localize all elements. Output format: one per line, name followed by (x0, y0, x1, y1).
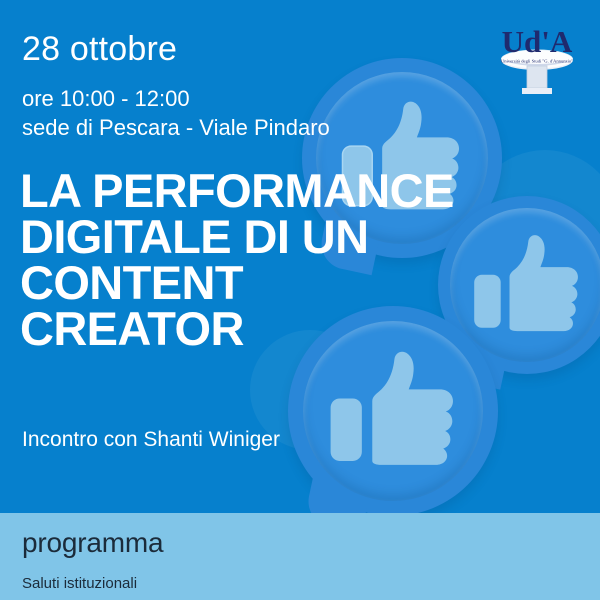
poster-content: 28 ottobre ore 10:00 - 12:00 sede di Pes… (0, 0, 600, 600)
event-meta: ore 10:00 - 12:00 sede di Pescara - Vial… (22, 84, 330, 142)
headline-line-2: DIGITALE DI UN (20, 214, 586, 260)
speaker-line: Incontro con Shanti Winiger (22, 428, 280, 452)
headline-line-4: CREATOR (20, 306, 586, 352)
programme-item: Saluti istituzionali (22, 575, 137, 592)
event-date: 28 ottobre (22, 32, 177, 68)
headline-line-1: LA PERFORMANCE (20, 168, 586, 214)
programme-title: programma (22, 527, 163, 559)
programme-band: programma Saluti istituzionali (0, 513, 600, 600)
event-poster: Università degli Studi "G. d'Annunzio" U… (0, 0, 600, 600)
page-title: LA PERFORMANCE DIGITALE DI UN CONTENT CR… (20, 168, 586, 352)
headline-line-3: CONTENT (20, 260, 586, 306)
event-venue: sede di Pescara - Viale Pindaro (22, 113, 330, 142)
event-time: ore 10:00 - 12:00 (22, 84, 330, 113)
